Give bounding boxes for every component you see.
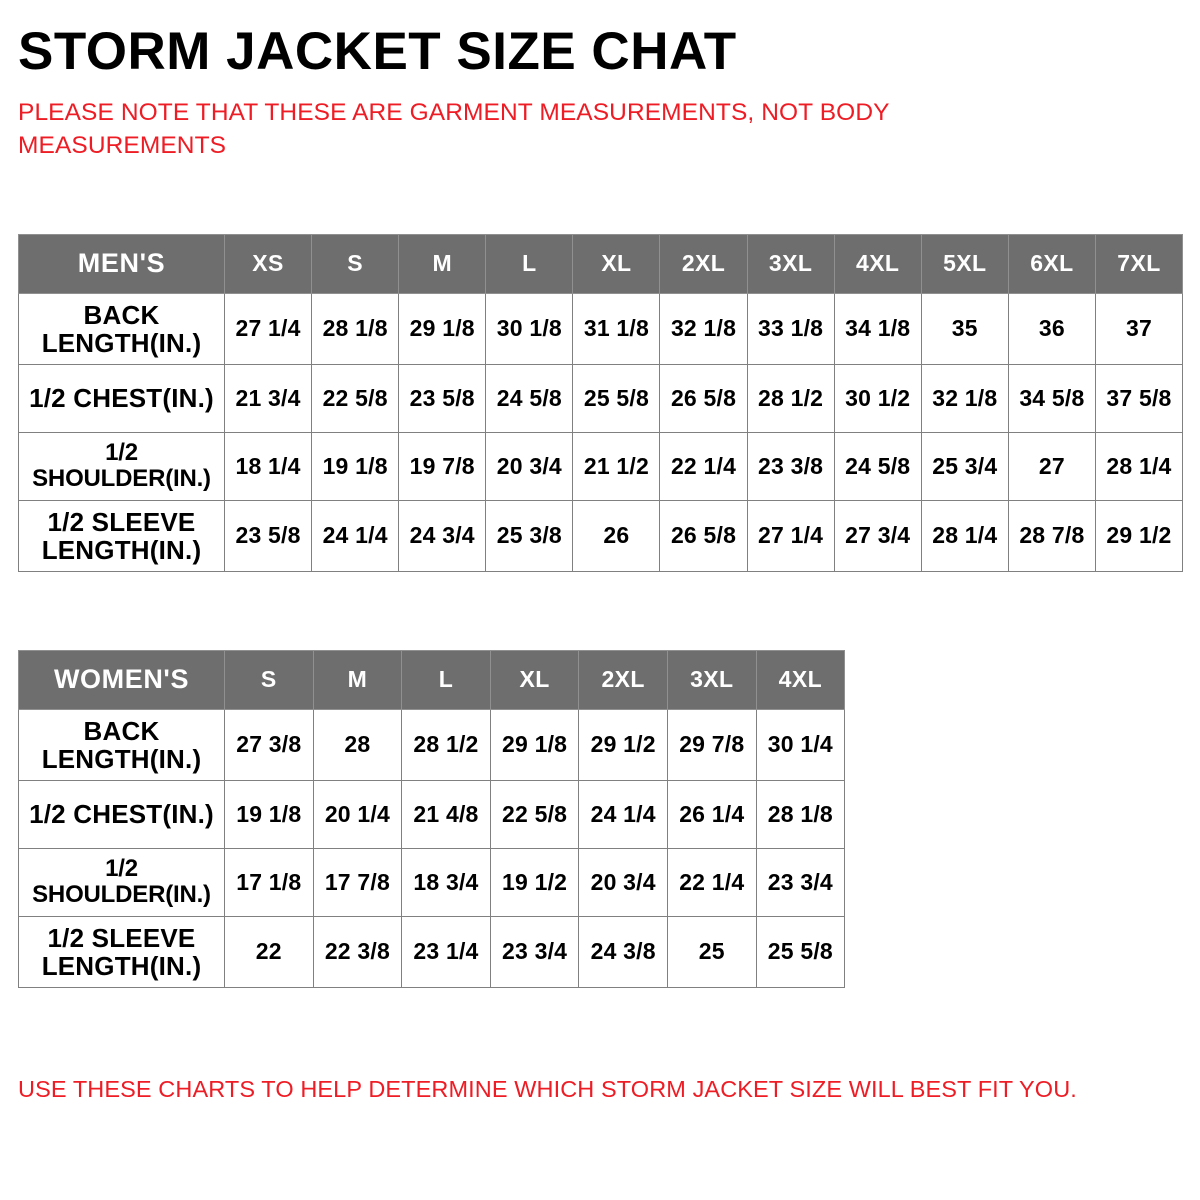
measurement-value: 25 bbox=[667, 916, 756, 987]
measurement-value: 26 5/8 bbox=[660, 364, 747, 432]
measurement-value: 27 bbox=[1008, 432, 1095, 500]
measurement-value: 37 bbox=[1095, 293, 1182, 364]
table-row: 1/2 SHOULDER(IN.)17 1/817 7/818 3/419 1/… bbox=[19, 848, 845, 916]
measurement-value: 28 1/4 bbox=[921, 500, 1008, 571]
measurement-value: 29 1/8 bbox=[399, 293, 486, 364]
measurement-value: 18 3/4 bbox=[402, 848, 491, 916]
measurement-value: 24 3/4 bbox=[399, 500, 486, 571]
womens-table-header-row: WOMEN'S SMLXL2XL3XL4XL bbox=[19, 650, 845, 709]
mens-size-header-m: M bbox=[399, 234, 486, 293]
measurement-value: 23 5/8 bbox=[399, 364, 486, 432]
mens-size-header-s: S bbox=[312, 234, 399, 293]
measurement-value: 28 1/8 bbox=[756, 780, 845, 848]
measurement-value: 24 3/8 bbox=[579, 916, 668, 987]
measurement-value: 24 1/4 bbox=[312, 500, 399, 571]
mens-size-header-7xl: 7XL bbox=[1095, 234, 1182, 293]
measurement-value: 19 1/8 bbox=[225, 780, 314, 848]
measurement-value: 25 5/8 bbox=[756, 916, 845, 987]
measurement-value: 22 1/4 bbox=[667, 848, 756, 916]
womens-size-header-4xl: 4XL bbox=[756, 650, 845, 709]
measurement-value: 21 1/2 bbox=[573, 432, 660, 500]
measurement-value: 34 5/8 bbox=[1008, 364, 1095, 432]
measurement-value: 25 3/8 bbox=[486, 500, 573, 571]
use-charts-note: USE THESE CHARTS TO HELP DETERMINE WHICH… bbox=[18, 1076, 1077, 1103]
womens-size-table: WOMEN'S SMLXL2XL3XL4XL BACKLENGTH(IN.)27… bbox=[18, 650, 845, 988]
measurement-value: 35 bbox=[921, 293, 1008, 364]
table-row: 1/2 SLEEVELENGTH(IN.)23 5/824 1/424 3/42… bbox=[19, 500, 1183, 571]
mens-size-header-4xl: 4XL bbox=[834, 234, 921, 293]
measurement-value: 25 5/8 bbox=[573, 364, 660, 432]
measurement-value: 19 1/8 bbox=[312, 432, 399, 500]
measurement-value: 17 7/8 bbox=[313, 848, 402, 916]
measurement-value: 32 1/8 bbox=[660, 293, 747, 364]
garment-measurement-note: PLEASE NOTE THAT THESE ARE GARMENT MEASU… bbox=[18, 80, 978, 162]
womens-measurement-label: 1/2 SLEEVELENGTH(IN.) bbox=[19, 916, 225, 987]
measurement-value: 20 3/4 bbox=[486, 432, 573, 500]
measurement-value: 28 bbox=[313, 709, 402, 780]
mens-size-table: MEN'S XSSMLXL2XL3XL4XL5XL6XL7XL BACKLENG… bbox=[18, 234, 1183, 572]
measurement-value: 27 3/4 bbox=[834, 500, 921, 571]
measurement-value: 26 1/4 bbox=[667, 780, 756, 848]
measurement-value: 28 7/8 bbox=[1008, 500, 1095, 571]
table-row: 1/2 CHEST(IN.)21 3/422 5/823 5/824 5/825… bbox=[19, 364, 1183, 432]
measurement-value: 22 5/8 bbox=[490, 780, 579, 848]
mens-size-header-5xl: 5XL bbox=[921, 234, 1008, 293]
measurement-value: 22 5/8 bbox=[312, 364, 399, 432]
measurement-value: 23 1/4 bbox=[402, 916, 491, 987]
measurement-value: 24 1/4 bbox=[579, 780, 668, 848]
mens-size-header-xl: XL bbox=[573, 234, 660, 293]
measurement-value: 19 1/2 bbox=[490, 848, 579, 916]
measurement-value: 22 1/4 bbox=[660, 432, 747, 500]
mens-measurement-label: 1/2 SHOULDER(IN.) bbox=[19, 432, 225, 500]
table-row: 1/2 SLEEVELENGTH(IN.)2222 3/823 1/423 3/… bbox=[19, 916, 845, 987]
measurement-value: 28 1/2 bbox=[747, 364, 834, 432]
measurement-value: 29 1/8 bbox=[490, 709, 579, 780]
measurement-value: 26 bbox=[573, 500, 660, 571]
measurement-value: 32 1/8 bbox=[921, 364, 1008, 432]
page-title: STORM JACKET SIZE CHAT bbox=[18, 0, 1182, 80]
measurement-value: 21 4/8 bbox=[402, 780, 491, 848]
measurement-value: 22 3/8 bbox=[313, 916, 402, 987]
measurement-value: 36 bbox=[1008, 293, 1095, 364]
measurement-value: 37 5/8 bbox=[1095, 364, 1182, 432]
mens-measurement-label: 1/2 CHEST(IN.) bbox=[19, 364, 225, 432]
womens-size-header-l: L bbox=[402, 650, 491, 709]
measurement-value: 28 1/8 bbox=[312, 293, 399, 364]
womens-size-header-s: S bbox=[225, 650, 314, 709]
mens-size-header-xs: XS bbox=[225, 234, 312, 293]
measurement-value: 20 1/4 bbox=[313, 780, 402, 848]
mens-size-header-2xl: 2XL bbox=[660, 234, 747, 293]
mens-table-corner-label: MEN'S bbox=[19, 234, 225, 293]
measurement-value: 23 5/8 bbox=[225, 500, 312, 571]
measurement-value: 25 3/4 bbox=[921, 432, 1008, 500]
measurement-value: 27 1/4 bbox=[747, 500, 834, 571]
measurement-value: 17 1/8 bbox=[225, 848, 314, 916]
mens-table-header-row: MEN'S XSSMLXL2XL3XL4XL5XL6XL7XL bbox=[19, 234, 1183, 293]
womens-size-header-m: M bbox=[313, 650, 402, 709]
measurement-value: 29 1/2 bbox=[1095, 500, 1182, 571]
table-row: BACKLENGTH(IN.)27 3/82828 1/229 1/829 1/… bbox=[19, 709, 845, 780]
measurement-value: 23 3/4 bbox=[756, 848, 845, 916]
womens-measurement-label: 1/2 CHEST(IN.) bbox=[19, 780, 225, 848]
womens-size-header-xl: XL bbox=[490, 650, 579, 709]
measurement-value: 26 5/8 bbox=[660, 500, 747, 571]
womens-measurement-label: BACKLENGTH(IN.) bbox=[19, 709, 225, 780]
size-chart-page: STORM JACKET SIZE CHAT PLEASE NOTE THAT … bbox=[0, 0, 1200, 1200]
measurement-value: 34 1/8 bbox=[834, 293, 921, 364]
mens-size-header-3xl: 3XL bbox=[747, 234, 834, 293]
measurement-value: 28 1/2 bbox=[402, 709, 491, 780]
measurement-value: 31 1/8 bbox=[573, 293, 660, 364]
measurement-value: 27 1/4 bbox=[225, 293, 312, 364]
table-row: BACKLENGTH(IN.)27 1/428 1/829 1/830 1/83… bbox=[19, 293, 1183, 364]
mens-size-header-l: L bbox=[486, 234, 573, 293]
measurement-value: 24 5/8 bbox=[486, 364, 573, 432]
mens-measurement-label: 1/2 SLEEVELENGTH(IN.) bbox=[19, 500, 225, 571]
measurement-value: 30 1/2 bbox=[834, 364, 921, 432]
womens-size-header-2xl: 2XL bbox=[579, 650, 668, 709]
measurement-value: 20 3/4 bbox=[579, 848, 668, 916]
measurement-value: 24 5/8 bbox=[834, 432, 921, 500]
measurement-value: 23 3/4 bbox=[490, 916, 579, 987]
womens-table-corner-label: WOMEN'S bbox=[19, 650, 225, 709]
mens-measurement-label: BACKLENGTH(IN.) bbox=[19, 293, 225, 364]
mens-size-header-6xl: 6XL bbox=[1008, 234, 1095, 293]
table-row: 1/2 SHOULDER(IN.)18 1/419 1/819 7/820 3/… bbox=[19, 432, 1183, 500]
measurement-value: 27 3/8 bbox=[225, 709, 314, 780]
measurement-value: 18 1/4 bbox=[225, 432, 312, 500]
measurement-value: 22 bbox=[225, 916, 314, 987]
measurement-value: 29 1/2 bbox=[579, 709, 668, 780]
measurement-value: 23 3/8 bbox=[747, 432, 834, 500]
measurement-value: 28 1/4 bbox=[1095, 432, 1182, 500]
measurement-value: 19 7/8 bbox=[399, 432, 486, 500]
table-row: 1/2 CHEST(IN.)19 1/820 1/421 4/822 5/824… bbox=[19, 780, 845, 848]
womens-measurement-label: 1/2 SHOULDER(IN.) bbox=[19, 848, 225, 916]
measurement-value: 21 3/4 bbox=[225, 364, 312, 432]
womens-size-header-3xl: 3XL bbox=[667, 650, 756, 709]
measurement-value: 29 7/8 bbox=[667, 709, 756, 780]
measurement-value: 30 1/8 bbox=[486, 293, 573, 364]
measurement-value: 30 1/4 bbox=[756, 709, 845, 780]
measurement-value: 33 1/8 bbox=[747, 293, 834, 364]
